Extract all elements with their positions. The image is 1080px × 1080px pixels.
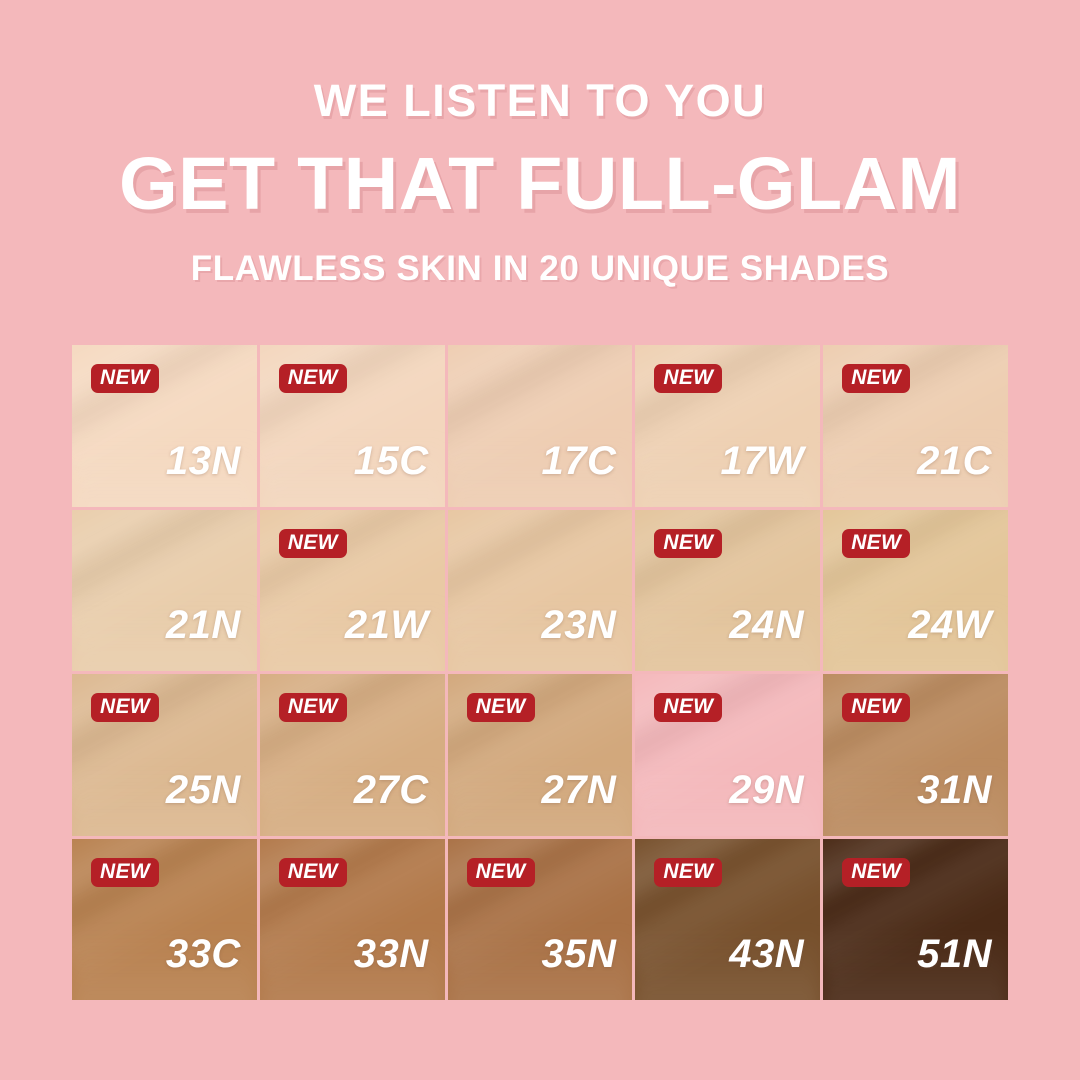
shade-label: 33C xyxy=(166,934,241,974)
shade-swatch[interactable]: NEW24N xyxy=(635,510,820,672)
shade-swatch[interactable]: NEW33N xyxy=(260,839,445,1001)
new-badge: NEW xyxy=(842,693,910,722)
new-badge: NEW xyxy=(279,529,347,558)
new-badge: NEW xyxy=(654,693,722,722)
shade-label: 21C xyxy=(917,441,992,481)
shade-label: 43N xyxy=(729,934,804,974)
shade-swatch[interactable]: NEW21W xyxy=(260,510,445,672)
shade-swatch[interactable]: NEW25N xyxy=(72,674,257,836)
shade-grid: NEW13NNEW15CNEW17CNEW17WNEW21CNEW21NNEW2… xyxy=(72,345,1008,1000)
new-badge: NEW xyxy=(654,858,722,887)
shade-label: 35N xyxy=(542,934,617,974)
shade-swatch[interactable]: NEW17W xyxy=(635,345,820,507)
shade-swatch[interactable]: NEW17C xyxy=(448,345,633,507)
shade-label: 33N xyxy=(354,934,429,974)
shade-swatch[interactable]: NEW21N xyxy=(72,510,257,672)
new-badge: NEW xyxy=(842,364,910,393)
shade-label: 17W xyxy=(720,441,804,481)
new-badge: NEW xyxy=(91,858,159,887)
shade-label: 29N xyxy=(729,770,804,810)
shade-label: 23N xyxy=(542,605,617,645)
new-badge: NEW xyxy=(279,858,347,887)
new-badge: NEW xyxy=(842,858,910,887)
shade-label: 24W xyxy=(908,605,992,645)
shade-swatch[interactable]: NEW51N xyxy=(823,839,1008,1001)
shade-swatch[interactable]: NEW31N xyxy=(823,674,1008,836)
new-badge: NEW xyxy=(91,364,159,393)
shade-swatch[interactable]: NEW23N xyxy=(448,510,633,672)
shade-label: 21W xyxy=(345,605,429,645)
page-title: GET THAT FULL-GLAM xyxy=(0,147,1080,221)
shade-label: 21N xyxy=(166,605,241,645)
header-block: WE LISTEN TO YOU GET THAT FULL-GLAM FLAW… xyxy=(0,78,1080,286)
shade-swatch[interactable]: NEW27N xyxy=(448,674,633,836)
subheadline-text: FLAWLESS SKIN IN 20 UNIQUE SHADES xyxy=(0,251,1080,286)
shade-swatch[interactable]: NEW15C xyxy=(260,345,445,507)
shade-label: 31N xyxy=(917,770,992,810)
shade-label: 25N xyxy=(166,770,241,810)
shade-label: 27C xyxy=(354,770,429,810)
shade-swatch[interactable]: NEW33C xyxy=(72,839,257,1001)
shade-swatch[interactable]: NEW27C xyxy=(260,674,445,836)
shade-label: 27N xyxy=(542,770,617,810)
shade-label: 24N xyxy=(729,605,804,645)
shade-swatch[interactable]: NEW43N xyxy=(635,839,820,1001)
new-badge: NEW xyxy=(279,364,347,393)
shade-swatch[interactable]: NEW21C xyxy=(823,345,1008,507)
eyebrow-text: WE LISTEN TO YOU xyxy=(0,78,1080,123)
new-badge: NEW xyxy=(654,364,722,393)
new-badge: NEW xyxy=(842,529,910,558)
shade-label: 13N xyxy=(166,441,241,481)
new-badge: NEW xyxy=(279,693,347,722)
shade-label: 51N xyxy=(917,934,992,974)
new-badge: NEW xyxy=(467,693,535,722)
new-badge: NEW xyxy=(654,529,722,558)
shade-swatch[interactable]: NEW24W xyxy=(823,510,1008,672)
shade-label: 17C xyxy=(542,441,617,481)
shade-swatch[interactable]: NEW13N xyxy=(72,345,257,507)
new-badge: NEW xyxy=(467,858,535,887)
new-badge: NEW xyxy=(91,693,159,722)
shade-swatch[interactable]: NEW29N xyxy=(635,674,820,836)
shade-swatch[interactable]: NEW35N xyxy=(448,839,633,1001)
shade-label: 15C xyxy=(354,441,429,481)
promo-page: WE LISTEN TO YOU GET THAT FULL-GLAM FLAW… xyxy=(0,0,1080,1080)
